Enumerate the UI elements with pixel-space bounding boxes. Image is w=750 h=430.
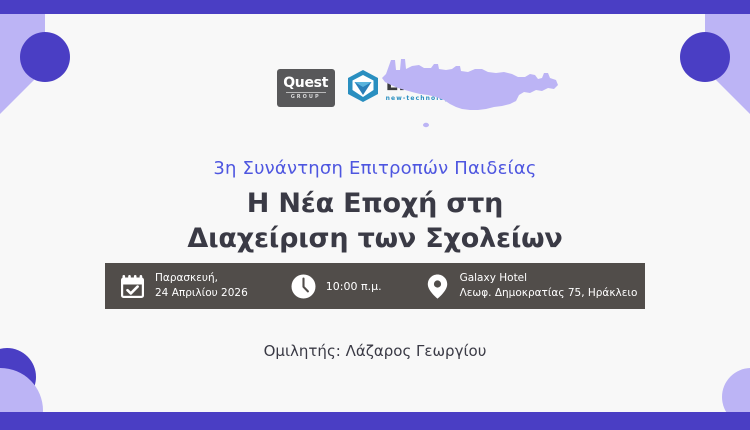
crete-map-icon — [378, 52, 564, 138]
event-date-item: Παρασκευή, 24 Απριλίου 2026 — [119, 271, 248, 301]
event-location-text: Galaxy Hotel Λεωφ. Δημοκρατίας 75, Ηράκλ… — [460, 271, 638, 301]
event-details-bar: Παρασκευή, 24 Απριλίου 2026 10:00 π.μ. — [105, 263, 645, 309]
bottom-accent-bar — [0, 412, 750, 430]
event-location-item: Galaxy Hotel Λεωφ. Δημοκρατίας 75, Ηράκλ… — [424, 271, 638, 301]
page-title: Η Νέα Εποχή στη Διαχείριση των Σχολείων — [0, 186, 750, 256]
event-poster: Quest GROUP ΕΠΑΦΟΣ new-technologies — [0, 0, 750, 430]
top-accent-bar — [0, 0, 750, 14]
quest-group-logo: Quest GROUP — [277, 69, 335, 107]
calendar-check-icon — [119, 273, 146, 300]
logo-row: Quest GROUP ΕΠΑΦΟΣ new-technologies — [0, 68, 750, 108]
clock-icon — [290, 273, 317, 300]
event-date-line-1: Παρασκευή, — [155, 272, 218, 284]
map-pin-icon — [424, 273, 451, 300]
event-kicker: 3η Συνάντηση Επιτροπών Παιδείας — [0, 158, 750, 179]
quest-logo-subtitle: GROUP — [291, 95, 321, 100]
event-time-item: 10:00 π.μ. — [290, 273, 382, 300]
title-line-2: Διαχείριση των Σχολείων — [187, 223, 562, 254]
epafos-diamond-icon — [345, 68, 381, 108]
quest-logo-wordmark: Quest — [283, 76, 328, 90]
event-date-line-2: 24 Απριλίου 2026 — [155, 286, 248, 301]
event-time-text: 10:00 π.μ. — [326, 280, 382, 293]
title-line-1: Η Νέα Εποχή στη — [247, 188, 503, 219]
speaker-line: Ομιλητής: Λάζαρος Γεωργίου — [0, 342, 750, 360]
quest-logo-divider — [286, 92, 326, 93]
event-location-line-2: Λεωφ. Δημοκρατίας 75, Ηράκλειο — [460, 286, 638, 301]
event-location-line-1: Galaxy Hotel — [460, 272, 528, 284]
event-date-text: Παρασκευή, 24 Απριλίου 2026 — [155, 271, 248, 301]
